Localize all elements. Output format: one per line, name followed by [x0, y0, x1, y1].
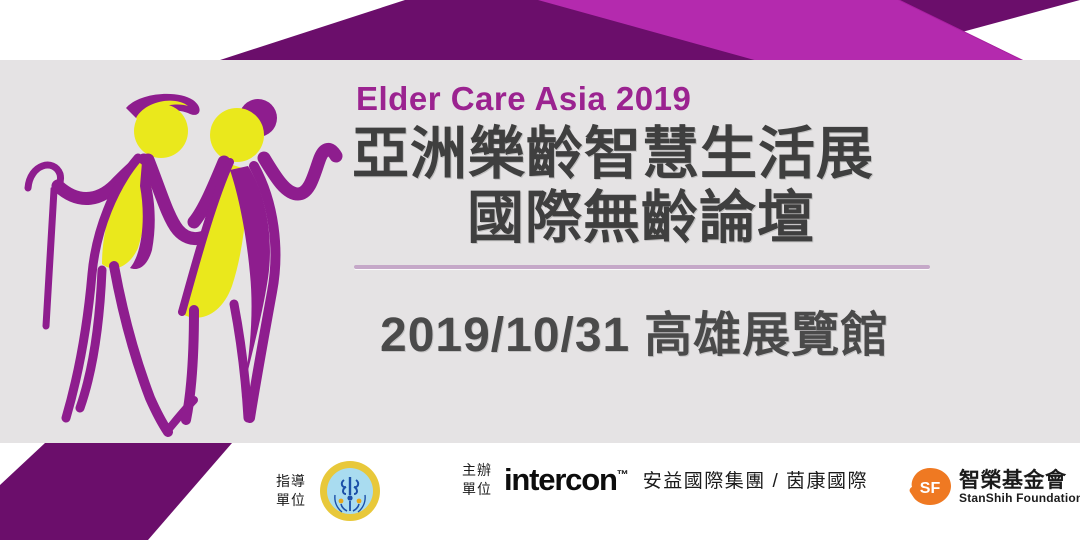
- chinese-title-line-1: 亞洲樂齡智慧生活展: [352, 123, 952, 187]
- foundation-name-cn: 智榮基金會: [959, 470, 1080, 492]
- organizer-label-line-1: 主辦: [462, 461, 492, 480]
- organizer-group: 主辦 單位 intercon™ 安益國際集團 / 茵康國際: [462, 461, 868, 499]
- intercon-logo: intercon™: [504, 464, 629, 495]
- trademark-symbol: ™: [617, 468, 629, 482]
- sf-initials: SF: [920, 480, 941, 497]
- band-shapes: [0, 0, 1080, 61]
- elder-dancers-illustration: [18, 78, 354, 440]
- sf-head-shape: SF: [908, 467, 952, 507]
- english-title: Elder Care Asia 2019: [356, 82, 952, 115]
- sponsor-footer: 指導 單位: [0, 443, 1080, 540]
- foundation-name-en: StanShih Foundation: [959, 492, 1080, 505]
- event-date: 2019/10/31: [380, 309, 630, 362]
- advisor-label-line-1: 指導: [276, 472, 306, 491]
- organizer-label-line-2: 單位: [462, 480, 492, 499]
- advisor-label-line-2: 單位: [276, 491, 306, 510]
- advisor-group: 指導 單位: [276, 461, 380, 521]
- title-divider: [354, 265, 930, 269]
- event-date-venue: 2019/10/31高雄展覽館: [380, 295, 952, 365]
- stanshih-sf-mark-icon: SF: [908, 467, 952, 507]
- chinese-title-line-2: 國際無齡論壇: [352, 187, 952, 251]
- dancers-svg: [18, 78, 354, 440]
- foundation-names: 智榮基金會 StanShih Foundation: [959, 470, 1080, 505]
- stanshih-foundation-group: SF 智榮基金會 StanShih Foundation: [908, 467, 1080, 507]
- advisor-label: 指導 單位: [276, 472, 306, 510]
- organizer-company-names: 安益國際集團 / 茵康國際: [643, 466, 868, 493]
- top-decorative-band: [0, 0, 1080, 61]
- poster: Elder Care Asia 2019 亞洲樂齡智慧生活展 國際無齡論壇 20…: [0, 0, 1080, 540]
- intercon-wordmark: intercon: [504, 462, 617, 497]
- seal-emblem: [320, 461, 380, 521]
- organizer-label: 主辦 單位: [462, 461, 492, 499]
- figure-right-with-bun: [182, 99, 336, 420]
- headline-block: Elder Care Asia 2019 亞洲樂齡智慧生活展 國際無齡論壇 20…: [352, 82, 952, 402]
- ministry-of-health-seal-icon: [320, 461, 380, 521]
- event-venue: 高雄展覽館: [644, 309, 889, 362]
